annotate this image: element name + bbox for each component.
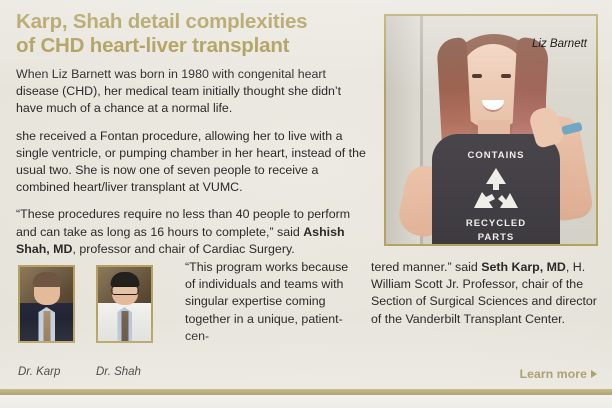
- page-title: Karp, Shah detail complexities of CHD he…: [16, 10, 368, 58]
- body-paragraph-3: “These procedures require no less than 4…: [16, 206, 368, 258]
- learn-more-label: Learn more: [520, 367, 587, 381]
- subject-eye-left: [472, 74, 482, 78]
- shah-necktie: [121, 311, 128, 341]
- karp-necktie: [43, 311, 50, 341]
- subject-tshirt: CONTAINS RECYCLED PARTS: [432, 134, 560, 246]
- body-paragraph-3-tail: , professor and chair of Cardiac Surgery…: [72, 242, 294, 256]
- photo-liz-barnett: CONTAINS RECYCLED PARTS Liz Barnett: [384, 14, 598, 246]
- shah-hair: [110, 272, 139, 287]
- article-body: When Liz Barnett was born in 1980 with c…: [16, 66, 368, 258]
- footer-strip: [0, 395, 612, 408]
- tshirt-text-contains: CONTAINS: [432, 150, 560, 161]
- subject-eye-right: [501, 74, 511, 78]
- photo-caption-liz-barnett: Liz Barnett: [532, 38, 587, 50]
- karp-hair: [32, 272, 61, 287]
- body-paragraph-3-lead: “These procedures require no less than 4…: [16, 207, 350, 238]
- shah-eyeglasses: [111, 286, 138, 295]
- headline-line-2: of CHD heart-liver transplant: [16, 34, 368, 58]
- tshirt-text-parts: PARTS: [432, 232, 560, 243]
- attribution-seth-karp: Seth Karp, MD: [481, 260, 566, 274]
- vumc-story-card: Karp, Shah detail complexities of CHD he…: [0, 0, 612, 408]
- headline-line-1: Karp, Shah detail complexities: [16, 10, 307, 33]
- chevron-right-icon: [591, 370, 597, 378]
- pull-quote-lead: tered manner.” said: [371, 260, 481, 274]
- recycling-symbol-icon: [468, 166, 524, 216]
- pull-quote-right-column: tered manner.” said Seth Karp, MD, H. Wi…: [371, 259, 599, 328]
- photo-caption-dr-shah: Dr. Shah: [96, 366, 141, 378]
- tshirt-text-recycled: RECYCLED: [432, 218, 560, 229]
- photo-dr-shah: [96, 265, 153, 343]
- learn-more-link[interactable]: Learn more: [520, 367, 597, 381]
- body-paragraph-2: she received a Fontan procedure, allowin…: [16, 128, 368, 197]
- photo-caption-dr-karp: Dr. Karp: [18, 366, 60, 378]
- pull-quote-middle-column: “This program works because of individua…: [185, 259, 360, 345]
- photo-dr-karp: [18, 265, 75, 343]
- body-paragraph-1: When Liz Barnett was born in 1980 with c…: [16, 66, 368, 118]
